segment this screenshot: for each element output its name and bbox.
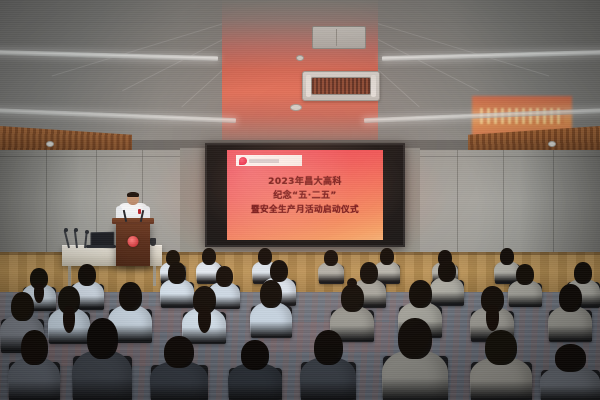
audience-person-head bbox=[555, 344, 586, 372]
slide-title-line-3: 暨安全生产月活动启动仪式 bbox=[227, 204, 383, 217]
ceiling-soffit-glow bbox=[222, 0, 378, 140]
ac-vane-right bbox=[371, 75, 376, 97]
microphone-head bbox=[74, 228, 78, 232]
slide-title-line-1: 2023年昌大高科 bbox=[227, 176, 383, 190]
ceiling-air-vent bbox=[312, 26, 366, 49]
audience-person bbox=[8, 330, 60, 400]
audience-person-head bbox=[574, 262, 592, 284]
audience-person-hair-bun bbox=[347, 278, 357, 288]
company-logo-mark bbox=[239, 157, 247, 165]
ac-grille bbox=[311, 77, 371, 95]
audience-person bbox=[72, 318, 132, 400]
smoke-detector-icon bbox=[46, 141, 54, 147]
audience-person-head bbox=[119, 282, 142, 311]
audience-person-head bbox=[559, 284, 582, 312]
audience-person-head bbox=[324, 250, 338, 266]
slide-title-block: 2023年昌大高科 纪念“五·二五” 暨安全生产月活动启动仪式 bbox=[227, 176, 383, 217]
microphone-head bbox=[85, 230, 89, 234]
audience-person bbox=[182, 286, 226, 342]
audience-person bbox=[548, 284, 592, 340]
ceiling-ac-cassette bbox=[302, 71, 380, 101]
audience-person-head bbox=[270, 260, 288, 282]
audience-person-head bbox=[11, 292, 34, 321]
speaker-podium bbox=[116, 222, 150, 266]
audience-person-head bbox=[500, 248, 514, 265]
audience-person bbox=[382, 318, 448, 400]
audience-person-ponytail bbox=[198, 306, 211, 333]
audience-person-head bbox=[168, 262, 186, 284]
audience-person-head bbox=[360, 262, 378, 284]
audience-person-head bbox=[21, 330, 48, 365]
slide-logo-banner bbox=[236, 155, 302, 166]
audience-person-head bbox=[87, 318, 118, 359]
audience-person-head bbox=[341, 284, 364, 312]
audience-person-head bbox=[78, 264, 96, 286]
audience-person bbox=[150, 336, 208, 400]
audience-person-head bbox=[260, 280, 282, 308]
audience-person-head bbox=[164, 336, 194, 368]
microphone-head bbox=[64, 228, 68, 232]
projected-slide: 2023年昌大高科 纪念“五·二五” 暨安全生产月活动启动仪式 bbox=[227, 150, 383, 240]
smoke-detector-icon bbox=[296, 55, 304, 61]
cup bbox=[150, 238, 156, 246]
slide-title-line-2: 纪念“五·二五” bbox=[227, 190, 383, 204]
audience-person bbox=[470, 330, 532, 400]
audience-person-head bbox=[485, 330, 517, 365]
audience-person bbox=[318, 250, 344, 282]
podium-top bbox=[112, 218, 154, 224]
smoke-detector-icon bbox=[548, 141, 556, 147]
audience-person-head bbox=[241, 340, 269, 370]
smoke-detector-icon bbox=[290, 104, 302, 111]
ac-vane-left bbox=[306, 75, 311, 97]
speaker-hair bbox=[127, 192, 139, 197]
audience-person-head bbox=[409, 280, 432, 308]
audience-person-head bbox=[216, 266, 233, 287]
audience-person-head bbox=[202, 248, 216, 265]
table-leg bbox=[153, 266, 156, 286]
audience-person bbox=[300, 330, 356, 400]
audience-person-head bbox=[314, 330, 343, 365]
laptop-base bbox=[86, 245, 116, 248]
podium-emblem bbox=[128, 236, 139, 247]
audience-person bbox=[250, 280, 292, 336]
conference-hall-photo: 2023年昌大高科 纪念“五·二五” 暨安全生产月活动启动仪式 bbox=[0, 0, 600, 400]
company-logo-wordmark bbox=[249, 159, 299, 163]
audience-person-head bbox=[398, 318, 432, 359]
projection-screen: 2023年昌大高科 纪念“五·二五” 暨安全生产月活动启动仪式 bbox=[205, 143, 405, 247]
audience-person bbox=[540, 344, 600, 400]
ceiling bbox=[0, 0, 600, 140]
audience-person-ponytail bbox=[486, 305, 499, 331]
audience-person bbox=[228, 340, 282, 400]
audience-person-head bbox=[438, 260, 456, 282]
audience-person-head bbox=[516, 264, 534, 285]
